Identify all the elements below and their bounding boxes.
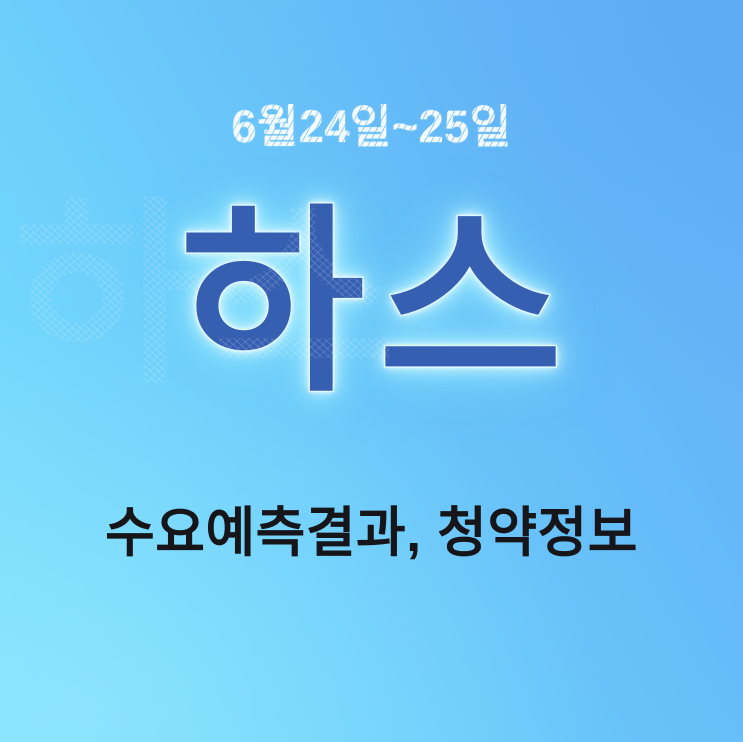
poster-canvas: 6월24일~25일 하스 하스 수요예측결과, 청약정보 — [0, 0, 743, 742]
subtitle-text: 수요예측결과, 청약정보 — [0, 504, 743, 562]
poster-content: 6월24일~25일 하스 하스 수요예측결과, 청약정보 — [0, 0, 743, 742]
date-range-text: 6월24일~25일 — [0, 104, 743, 149]
main-title-block: 하스 하스 — [0, 196, 743, 411]
main-title-text: 하스 — [166, 204, 576, 404]
